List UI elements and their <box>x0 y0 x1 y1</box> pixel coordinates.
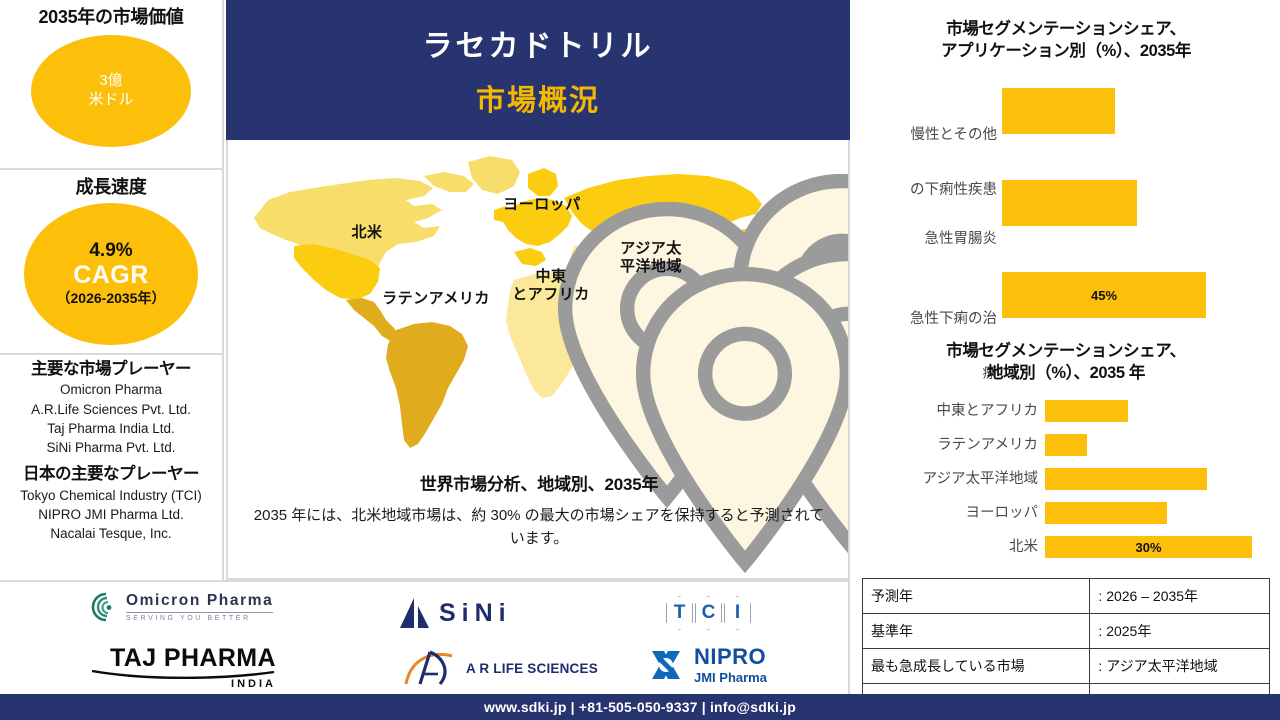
application-chart-title-line1: 市場セグメンテーションシェア、 <box>864 18 1268 40</box>
list-item: Tokyo Chemical Industry (TCI) <box>20 486 202 505</box>
page-title: ラセカドトリル <box>423 21 654 65</box>
bar-value: 45% <box>1091 288 1117 303</box>
bar-europe <box>1045 502 1167 524</box>
logo-ar-life-sciences: A R LIFE SCIENCES <box>400 648 598 688</box>
map-caption: 世界市場分析、地域別、2035年 <box>228 470 850 495</box>
bar-acute-gastroenteritis <box>1002 180 1137 226</box>
taj-tagline: INDIA <box>231 678 276 690</box>
bar-value: 30% <box>1135 540 1161 555</box>
omicron-name: Omicron Pharma <box>126 592 273 610</box>
bar-row: アジア太平洋地域 <box>852 468 1280 490</box>
sini-name: SiNi <box>439 599 512 628</box>
map-pin-europe <box>531 170 553 198</box>
map-label-north-america: 北米 <box>336 224 398 242</box>
region-chart-title: 市場セグメンテーションシェア、 地域別（%）、2035 年 <box>864 340 1268 385</box>
footer-bar: www.sdki.jp | +81-505-050-9337 | info@sd… <box>0 694 1280 720</box>
arl-swoosh-icon <box>400 648 464 688</box>
page-header: ラセカドトリル 市場概況 <box>226 0 850 140</box>
logo-strip: Omicron Pharma SERVING YOU BETTER TAJ PH… <box>0 580 850 694</box>
table-row: 最も急成長している市場 : アジア太平洋地域 <box>863 649 1270 684</box>
logo-tci: T C I <box>666 596 751 630</box>
bar-row: 中東とアフリカ <box>852 400 1280 422</box>
market-value-amount: 3億 <box>99 72 122 91</box>
world-map-panel: 北米 ヨーロッパ アジア太 平洋地域 中東 とアフリカ ラテンアメリカ 世界市場… <box>226 140 850 580</box>
tci-letter-i: I <box>724 596 751 630</box>
logo-taj-pharma: TAJ PHARMA INDIA <box>90 644 276 690</box>
table-row: 予測年 : 2026 – 2035年 <box>863 579 1270 614</box>
bar-label-line1: 急性下痢の治 <box>852 310 997 328</box>
bar-asia-pacific <box>1045 468 1207 490</box>
market-value-bubble: 3億 米ドル <box>31 35 191 147</box>
tci-letter-c: C <box>695 596 722 630</box>
map-pin-latin-america <box>434 263 456 291</box>
application-segmentation-chart: 慢性とその他 の下痢性疾患 急性胃腸炎 急性下痢の治 療 <box>852 88 1280 326</box>
region-segmentation-chart: 中東とアフリカ ラテンアメリカ アジア太平洋地域 ヨーロッパ <box>852 400 1280 570</box>
map-label-europe: ヨーロッパ <box>476 196 608 214</box>
bar-middle-east-africa <box>1045 400 1128 422</box>
list-item: SiNi Pharma Pvt. Ltd. <box>46 438 175 457</box>
page-subtitle: 市場概況 <box>476 77 600 119</box>
region-chart-title-line2: 地域別（%）、2035 年 <box>864 362 1268 384</box>
sini-sail-icon <box>398 596 432 630</box>
map-pin-asia-pacific <box>640 214 662 242</box>
bar-row: 慢性とその他 の下痢性疾患 <box>852 88 1280 134</box>
japan-players-title: 日本の主要なプレーヤー <box>23 464 199 485</box>
bar-label-line1: 慢性とその他 <box>852 126 997 144</box>
bar-label: 中東とアフリカ <box>852 402 1038 420</box>
cagr-period: （2026-2035年） <box>57 290 166 307</box>
bar-acute-diarrhea-treatment: 45% <box>1002 272 1206 318</box>
map-label-asia-pacific: アジア太 平洋地域 <box>596 240 706 275</box>
growth-rate-cell: 成長速度 4.9% CAGR （2026-2035年） <box>0 170 222 355</box>
bar-label: アジア太平洋地域 <box>852 470 1038 488</box>
list-item: Nacalai Tesque, Inc. <box>50 524 171 543</box>
region-chart-title-line1: 市場セグメンテーションシェア、 <box>864 340 1268 362</box>
bar-latin-america <box>1045 434 1087 456</box>
logo-nipro: NIPRO JMI Pharma <box>644 644 767 685</box>
cagr-metric-label: CAGR <box>73 261 149 290</box>
table-cell-value: : 2026 – 2035年 <box>1090 579 1270 614</box>
bar-row: 北米 30% <box>852 536 1280 558</box>
table-cell-key: 基準年 <box>863 614 1090 649</box>
application-chart-title: 市場セグメンテーションシェア、 アプリケーション別（%）、2035年 <box>864 18 1268 63</box>
bar-label: ラテンアメリカ <box>852 436 1038 454</box>
omicron-swirl-icon <box>88 592 122 622</box>
region-greenland <box>468 156 520 194</box>
world-map: 北米 ヨーロッパ アジア太 平洋地域 中東 とアフリカ ラテンアメリカ <box>228 148 850 458</box>
bar-row: 急性胃腸炎 <box>852 180 1280 226</box>
table-row: 基準年 : 2025年 <box>863 614 1270 649</box>
taj-name: TAJ PHARMA <box>110 644 276 673</box>
nipro-tagline: JMI Pharma <box>694 670 767 685</box>
market-value-currency: 米ドル <box>88 91 133 110</box>
list-item: Taj Pharma India Ltd. <box>47 419 175 438</box>
map-description: 2035 年には、北米地域市場は、約 30% の最大の市場シェアを保持すると予測… <box>252 504 826 551</box>
bar-label-line1: 急性胃腸炎 <box>852 230 997 248</box>
map-label-latin-america: ラテンアメリカ <box>352 290 520 308</box>
cagr-value: 4.9% <box>89 241 132 262</box>
logo-omicron-pharma: Omicron Pharma SERVING YOU BETTER <box>88 592 273 622</box>
list-item: Omicron Pharma <box>60 380 162 399</box>
table-cell-value: : アジア太平洋地域 <box>1090 649 1270 684</box>
market-value-cell: 2035年の市場価値 3億 米ドル <box>0 0 222 170</box>
list-item: A.R.Life Sciences Pvt. Ltd. <box>31 400 191 419</box>
nipro-name: NIPRO <box>694 644 767 670</box>
bar-label: ヨーロッパ <box>852 504 1038 522</box>
bar-row: 急性下痢の治 療 45% <box>852 272 1280 318</box>
tci-letter-t: T <box>666 596 693 630</box>
list-item: NIPRO JMI Pharma Ltd. <box>38 505 184 524</box>
cagr-bubble: 4.9% CAGR （2026-2035年） <box>24 203 198 346</box>
table-cell-value: : 2025年 <box>1090 614 1270 649</box>
bar-north-america: 30% <box>1045 536 1252 558</box>
table-cell-key: 最も急成長している市場 <box>863 649 1090 684</box>
table-cell-key: 予測年 <box>863 579 1090 614</box>
bar-label: 北米 <box>852 538 1038 556</box>
arl-name: A R LIFE SCIENCES <box>466 661 598 676</box>
omicron-tagline: SERVING YOU BETTER <box>126 615 273 622</box>
divider <box>126 612 273 613</box>
infographic-root: 2035年の市場価値 3億 米ドル 成長速度 4.9% CAGR （2026-2… <box>0 0 1280 720</box>
key-players-title: 主要な市場プレーヤー <box>31 359 191 380</box>
footer-contact-text: www.sdki.jp | +81-505-050-9337 | info@sd… <box>484 699 796 715</box>
application-chart-title-line2: アプリケーション別（%）、2035年 <box>864 40 1268 62</box>
bar-chronic-other-diarrheal <box>1002 88 1115 134</box>
bar-row: ラテンアメリカ <box>852 434 1280 456</box>
bar-row: ヨーロッパ <box>852 502 1280 524</box>
logo-sini: SiNi <box>398 596 512 630</box>
growth-rate-title: 成長速度 <box>76 176 147 199</box>
map-pin-north-america <box>356 198 378 226</box>
market-value-title: 2035年の市場価値 <box>38 6 183 29</box>
nipro-mark-icon <box>644 645 688 685</box>
right-panel: 市場セグメンテーションシェア、 アプリケーション別（%）、2035年 慢性とその… <box>852 0 1280 694</box>
